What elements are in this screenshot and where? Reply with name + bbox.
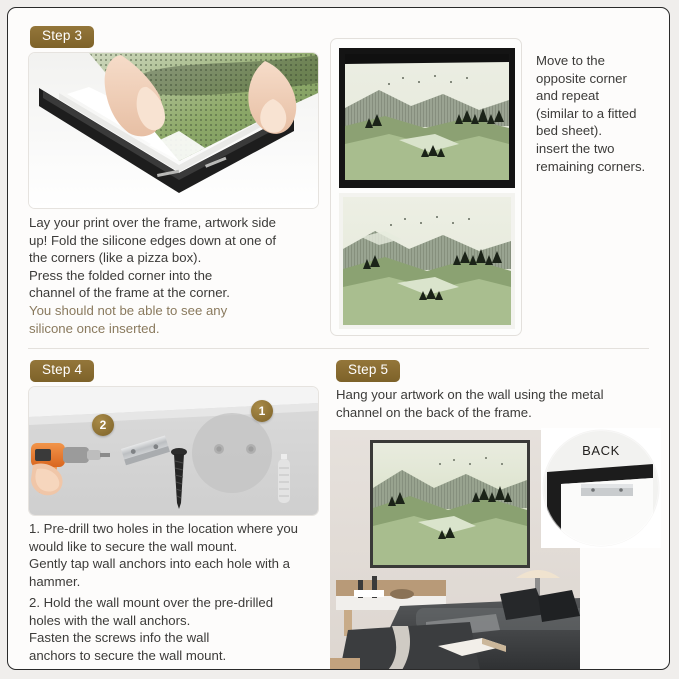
step-3-badge: Step 3 bbox=[30, 26, 94, 48]
back-inset-label: BACK bbox=[541, 443, 661, 458]
step-5-instructions: Hang your artwork on the wall using the … bbox=[336, 386, 648, 421]
drill-and-wall-mount-illustration bbox=[29, 387, 318, 515]
step-4-badge: Step 4 bbox=[30, 360, 94, 382]
step-3-flat-artwork-photo bbox=[339, 193, 515, 329]
frame-corner-illustration bbox=[29, 53, 318, 208]
step-3-draped-artwork-photo bbox=[339, 48, 515, 188]
step-4-instruction-1: 1. Pre-drill two holes in the location w… bbox=[29, 520, 321, 590]
step-3-text-block: Lay your print over the frame, artwork s… bbox=[29, 214, 321, 337]
step-4-callout-1: 1 bbox=[251, 400, 273, 422]
step-3-instructions: Lay your print over the frame, artwork s… bbox=[29, 214, 321, 302]
step-3-main-photo bbox=[28, 52, 319, 209]
step-4-photo bbox=[28, 386, 319, 516]
step-5-badge: Step 5 bbox=[336, 360, 400, 382]
step-3-artwork-panel bbox=[330, 38, 522, 336]
step-5-back-inset: BACK bbox=[541, 428, 661, 548]
section-divider bbox=[28, 348, 649, 349]
flat-print-illustration bbox=[339, 193, 515, 329]
step-4-callout-2: 2 bbox=[92, 414, 114, 436]
draped-print-illustration bbox=[339, 48, 515, 188]
instruction-sheet: Step 3 bbox=[7, 7, 670, 670]
step-4-instruction-2: 2. Hold the wall mount over the pre-dril… bbox=[29, 594, 321, 664]
step-3-side-note: Move to the opposite corner and repeat (… bbox=[536, 52, 670, 175]
step-3-highlight: You should not be able to see any silico… bbox=[29, 302, 321, 337]
